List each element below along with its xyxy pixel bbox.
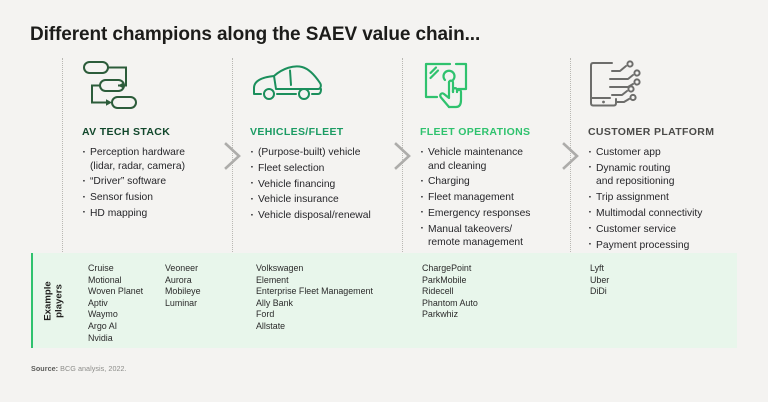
bullet-item: Vehicle financing [250, 178, 410, 192]
column-header: CUSTOMER PLATFORM [588, 126, 748, 138]
player-name: Ridecell [422, 286, 478, 297]
bullet-item: Dynamic routing and repositioning [588, 162, 748, 189]
value-chain-column-customer-platform: CUSTOMER PLATFORM Customer app Dynamic r… [588, 58, 748, 254]
column-bullet-list: Vehicle maintenance and cleaning Chargin… [420, 146, 580, 250]
bullet-item: Payment processing [588, 239, 748, 253]
player-name: Ally Bank [256, 298, 373, 309]
player-name: Allstate [256, 321, 373, 332]
label-line-1: Example [43, 281, 54, 320]
column-header: AV TECH STACK [82, 126, 242, 138]
bullet-item: Trip assignment [588, 191, 748, 205]
flowchart-icon [82, 58, 242, 116]
bullet-continuation: remote management [428, 236, 580, 250]
bullet-text: Sensor fusion [90, 192, 153, 203]
bullet-item: Manual takeovers/ remote management [420, 223, 580, 250]
bullet-text: Manual takeovers/ [428, 224, 512, 235]
value-chain-column-fleet-operations: FLEET OPERATIONS Vehicle maintenance and… [420, 58, 580, 252]
bullet-text: Vehicle financing [258, 179, 335, 190]
bullet-item: HD mapping [82, 207, 242, 221]
player-name: Aurora [165, 275, 201, 286]
player-name: Woven Planet [88, 286, 143, 297]
players-list-fleet-operations: ChargePoint ParkMobile Ridecell Phantom … [422, 263, 478, 321]
bullet-text: Vehicle insurance [258, 194, 339, 205]
source-text: BCG analysis, 2022. [58, 364, 127, 373]
bullet-text: HD mapping [90, 208, 147, 219]
source-note: Source: BCG analysis, 2022. [31, 364, 127, 373]
player-name: Phantom Auto [422, 298, 478, 309]
bullet-item: Sensor fusion [82, 191, 242, 205]
bullet-text: Customer service [596, 224, 676, 235]
player-name: Motional [88, 275, 143, 286]
player-name: Lyft [590, 263, 609, 274]
player-name: Argo AI [88, 321, 143, 332]
bullet-text: (Purpose-built) vehicle [258, 147, 360, 158]
bullet-item: Charging [420, 175, 580, 189]
page-title: Different champions along the SAEV value… [30, 24, 480, 46]
bullet-continuation: (lidar, radar, camera) [90, 160, 242, 174]
player-name: Nvidia [88, 333, 143, 344]
player-name: Veoneer [165, 263, 201, 274]
bullet-item: (Purpose-built) vehicle [250, 146, 410, 160]
bullet-item: Multimodal connectivity [588, 207, 748, 221]
bullet-item: Perception hardware (lidar, radar, camer… [82, 146, 242, 173]
player-name: Waymo [88, 309, 143, 320]
column-bullet-list: Customer app Dynamic routing and reposit… [588, 146, 748, 252]
player-name: Luminar [165, 298, 201, 309]
bullet-text: Customer app [596, 147, 661, 158]
bullet-text: Charging [428, 176, 470, 187]
player-name: Uber [590, 275, 609, 286]
bullet-item: Customer app [588, 146, 748, 160]
value-chain-columns: AV TECH STACK Perception hardware (lidar… [0, 58, 768, 254]
player-name: Parkwhiz [422, 309, 478, 320]
source-label: Source: [31, 364, 58, 373]
bullet-item: Vehicle disposal/renewal [250, 209, 410, 223]
bullet-text: Payment processing [596, 240, 689, 251]
player-name: ChargePoint [422, 263, 478, 274]
bullet-continuation: and cleaning [428, 160, 580, 174]
bullet-item: Customer service [588, 223, 748, 237]
bullet-text: Dynamic routing [596, 163, 670, 174]
value-chain-column-vehicles-fleet: VEHICLES/FLEET (Purpose-built) vehicle F… [250, 58, 410, 225]
bullet-text: Trip assignment [596, 192, 669, 203]
label-line-2: players [54, 284, 65, 318]
hand-tap-screen-icon [420, 58, 580, 116]
player-name: Element [256, 275, 373, 286]
player-name: Cruise [88, 263, 143, 274]
example-players-label: Example players [39, 253, 69, 348]
players-list-vehicles-fleet: Volkswagen Element Enterprise Fleet Mana… [256, 263, 373, 333]
player-name: DiDi [590, 286, 609, 297]
bullet-item: Fleet management [420, 191, 580, 205]
example-players-band: Example players Cruise Motional Woven Pl… [31, 253, 737, 348]
bullet-item: Fleet selection [250, 162, 410, 176]
bullet-text: Perception hardware [90, 147, 185, 158]
column-bullet-list: Perception hardware (lidar, radar, camer… [82, 146, 242, 221]
player-name: ParkMobile [422, 275, 478, 286]
bullet-text: Emergency responses [428, 208, 530, 219]
players-list-av-tech-stack-b: Veoneer Aurora Mobileye Luminar [165, 263, 201, 309]
player-name: Aptiv [88, 298, 143, 309]
bullet-text: Fleet selection [258, 163, 324, 174]
bullet-item: “Driver” software [82, 175, 242, 189]
players-list-customer-platform: Lyft Uber DiDi [590, 263, 609, 298]
column-bullet-list: (Purpose-built) vehicle Fleet selection … [250, 146, 410, 223]
bullet-item: Vehicle insurance [250, 193, 410, 207]
players-list-av-tech-stack-a: Cruise Motional Woven Planet Aptiv Waymo… [88, 263, 143, 344]
player-name: Volkswagen [256, 263, 373, 274]
column-header: FLEET OPERATIONS [420, 126, 580, 138]
bullet-continuation: and repositioning [596, 175, 748, 189]
bullet-text: Multimodal connectivity [596, 208, 702, 219]
player-name: Mobileye [165, 286, 201, 297]
phone-circuit-icon [588, 58, 748, 116]
bullet-item: Vehicle maintenance and cleaning [420, 146, 580, 173]
bullet-text: “Driver” software [90, 176, 166, 187]
bullet-text: Vehicle disposal/renewal [258, 210, 371, 221]
player-name: Ford [256, 309, 373, 320]
column-header: VEHICLES/FLEET [250, 126, 410, 138]
value-chain-column-av-tech-stack: AV TECH STACK Perception hardware (lidar… [82, 58, 242, 223]
player-name: Enterprise Fleet Management [256, 286, 373, 297]
car-icon [250, 58, 410, 116]
bullet-text: Fleet management [428, 192, 514, 203]
bullet-item: Emergency responses [420, 207, 580, 221]
band-accent-bar [31, 253, 33, 348]
bullet-text: Vehicle maintenance [428, 147, 523, 158]
